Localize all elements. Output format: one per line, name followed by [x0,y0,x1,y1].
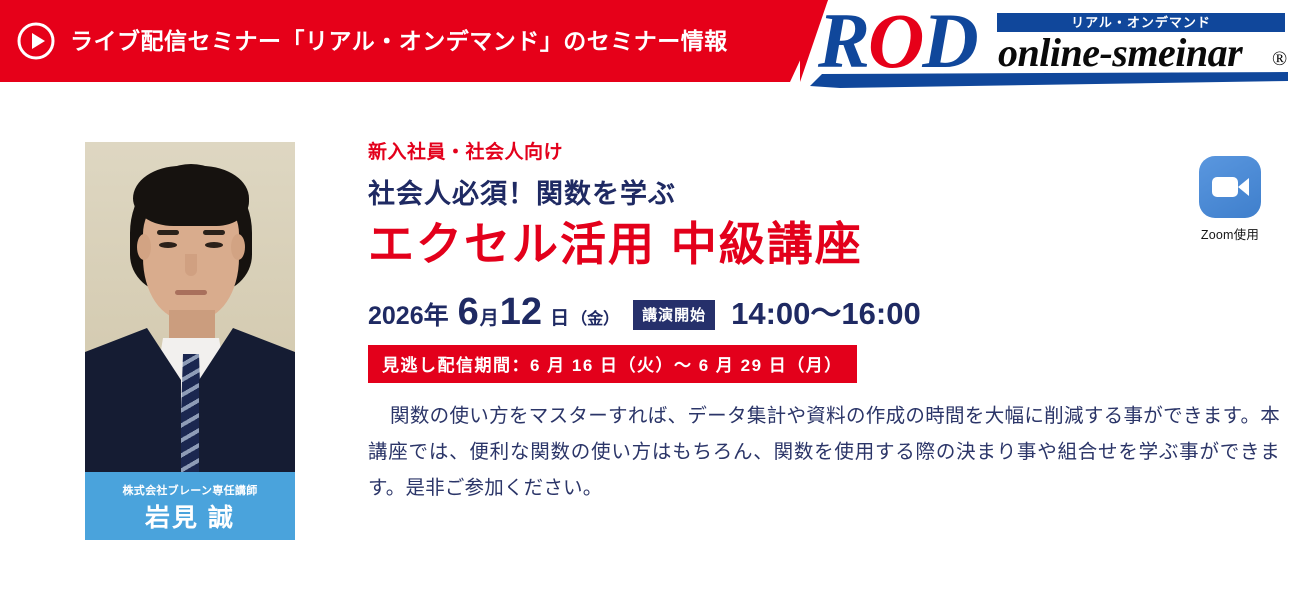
seminar-time: 14:00〜16:00 [731,288,921,333]
seminar-kicker: 新入社員・社会人向け [368,140,1278,166]
speaker-caption: 株式会社ブレーン専任講師 岩見 誠 [85,472,295,540]
page-header: ライブ配信セミナー「リアル・オンデマンド」のセミナー情報 リアル・オンデマンド … [0,0,1300,100]
portrait-brow-right [203,230,225,235]
header-title: ライブ配信セミナー「リアル・オンデマンド」のセミナー情報 [70,22,728,60]
date-month: 6 [458,291,479,334]
registered-mark-icon: ® [1272,48,1287,71]
portrait-brow-left [157,230,179,235]
seminar-subtitle: 社会人必須！関数を学ぶ [368,174,1278,214]
speaker-role: 株式会社ブレーン専任講師 [85,472,295,498]
logo-wordmark: online-smeinar [998,33,1242,73]
portrait-ear-right [231,234,245,260]
date-day: 12 [500,291,542,334]
date-day-unit: 日 [550,303,569,330]
date-month-unit: 月 [480,303,499,330]
seminar-details: 新入社員・社会人向け 社会人必須！関数を学ぶ エクセル活用 中級講座 2026年… [368,140,1278,506]
portrait-ear-left [137,234,151,260]
speaker-photo [85,142,295,472]
speaker-name: 岩見 誠 [85,498,295,534]
zoom-camera-body [1212,177,1238,197]
portrait-eye-right [205,242,223,248]
zoom-video-icon [1199,156,1261,218]
speaker-card: 株式会社ブレーン専任講師 岩見 誠 [85,142,295,540]
portrait-nose [185,254,197,276]
zoom-label: Zoom使用 [1186,224,1274,243]
portrait-fringe [133,166,249,226]
seminar-title: エクセル活用 中級講座 [368,216,1278,272]
seminar-date-row: 2026年 6 月 12 日 （金） 講演開始 14:00〜16:00 [368,288,1278,334]
date-year: 2026年 [368,296,449,332]
logo-letter-r: R [818,0,868,84]
seminar-description: 関数の使い方をマスターすれば、データ集計や資料の作成の時間を大幅に削減する事がで… [368,398,1280,506]
portrait-eye-left [159,242,177,248]
rod-logo: リアル・オンデマンド ROD online-smeinar ® [800,0,1300,100]
portrait-mouth [175,290,207,295]
logo-rod-mark: ROD [818,2,977,80]
archive-period-band: 見逃し配信期間：6 月 16 日（火）〜 6 月 29 日（月） [368,345,857,383]
logo-letter-d: D [922,0,976,84]
zoom-camera-lens [1238,178,1249,196]
logo-letter-o: O [868,0,922,84]
date-day-of-week: （金） [571,305,619,329]
zoom-badge: Zoom使用 [1186,156,1274,243]
play-circle-icon [16,21,56,61]
start-badge: 講演開始 [633,300,715,330]
